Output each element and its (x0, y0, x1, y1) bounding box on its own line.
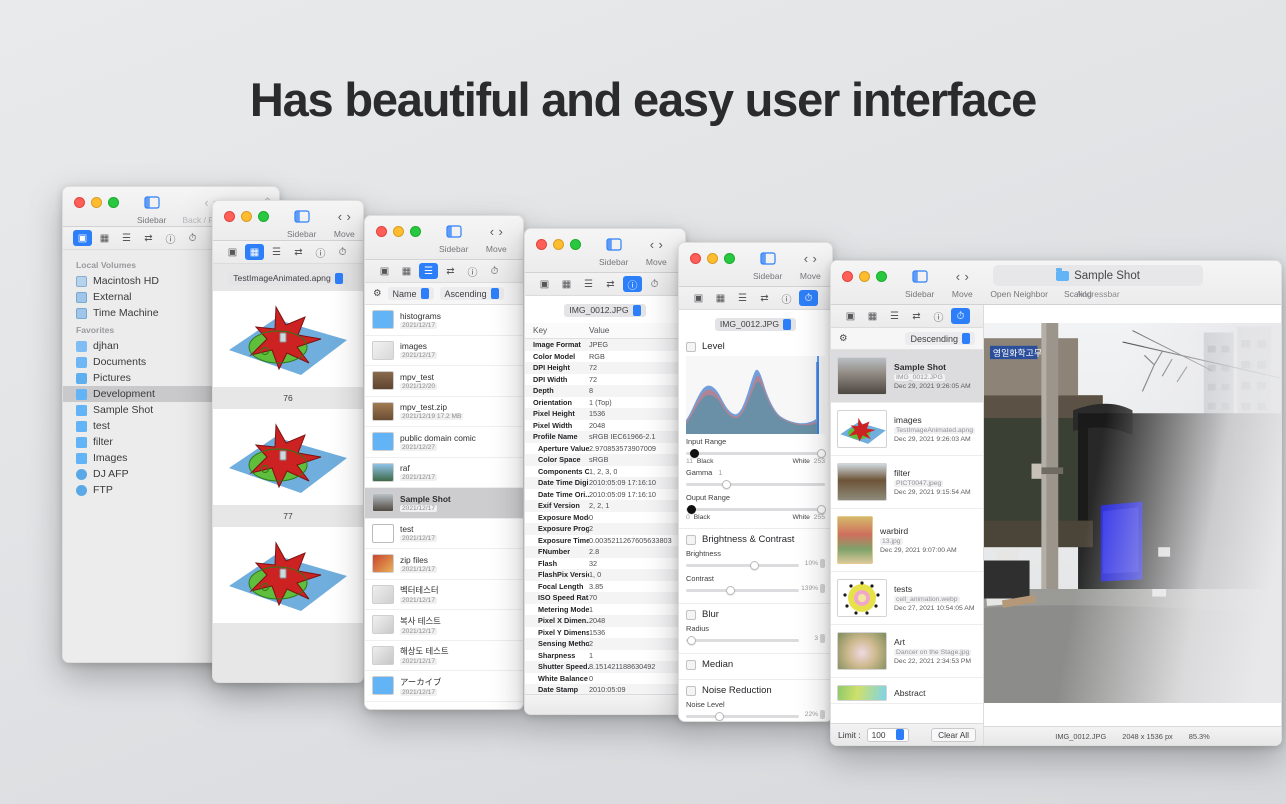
metadata-row[interactable]: Components C...1, 2, 3, 0 (525, 466, 685, 478)
sort-order-stepper[interactable] (962, 333, 970, 344)
section-blur[interactable]: Blur Radius 3 (679, 604, 832, 654)
metadata-row[interactable]: Focal Length3.85 (525, 581, 685, 593)
view-info-icon[interactable]: ⓘ (463, 263, 482, 279)
folder-icon (76, 405, 87, 416)
metadata-key: Shutter Speed... (525, 662, 589, 671)
titlebar[interactable]: Sidebar ‹ › Move ⌃ ⌄ Open Neighbor (679, 243, 832, 287)
toolbar-move-label: Move (646, 257, 667, 267)
radius-slider[interactable]: 3 (686, 634, 825, 646)
titlebar[interactable]: Sidebar ‹ › Move ⌃ ⌄ Open Neighbor (365, 216, 523, 260)
gamma-slider[interactable] (686, 478, 825, 490)
sidebar-icon (760, 249, 776, 268)
toolbar-sidebar[interactable]: Sidebar (279, 207, 324, 239)
item-filename: PICT0047.jpeg (894, 480, 943, 487)
metadata-row[interactable]: Image FormatJPEG (525, 339, 685, 351)
input-range-slider[interactable] (686, 447, 825, 459)
metadata-row[interactable]: Profile NamesRGB IEC61966-2.1 (525, 431, 685, 443)
toolbar-move[interactable]: ‹ › Move (476, 222, 516, 254)
list-item[interactable]: Sample Shot IMG_0012.JPG Dec 29, 2021 9:… (831, 350, 983, 403)
view-history-icon[interactable]: ⏱ (183, 230, 202, 246)
file-stepper[interactable] (633, 305, 641, 316)
pictures-icon (76, 373, 87, 384)
file-date: 2021/12/17 (400, 658, 437, 665)
traffic-lights[interactable] (679, 249, 735, 264)
zoom-button[interactable] (724, 253, 735, 264)
metadata-key: Aperture Value (525, 444, 589, 453)
image-adjustments-window[interactable]: Sidebar ‹ › Move ⌃ ⌄ Open Neighbor ▣ ▦ ☰… (678, 242, 833, 722)
item-filename: IMG_0012.JPG (894, 374, 945, 381)
move-icon: ‹ › (490, 222, 503, 241)
file-date: 2021/12/17 (400, 628, 437, 635)
toolbar-sidebar-label: Sidebar (599, 257, 628, 267)
metadata-window[interactable]: Sidebar ‹ › Move ⌃ ⌄ Open Neighbor ▣ ▦ ☰… (524, 228, 686, 715)
minimize-button[interactable] (859, 271, 870, 282)
metadata-row[interactable]: Pixel X Dimen...2048 (525, 615, 685, 627)
metadata-value-column: Value (589, 326, 609, 335)
image-viewer[interactable]: 영일화학고무 (984, 305, 1281, 745)
view-shuffle-icon[interactable]: ⇄ (601, 276, 620, 292)
gallery-list[interactable]: Sample Shot IMG_0012.JPG Dec 29, 2021 9:… (831, 350, 983, 723)
noise-reduction-checkbox[interactable] (686, 686, 696, 696)
close-button[interactable] (74, 197, 85, 208)
view-info-icon[interactable]: ⓘ (929, 308, 948, 324)
list-item[interactable]: Art Dancer on the Stage.jpg Dec 22, 2021… (831, 625, 983, 678)
toolbar-move-label: Move (800, 271, 821, 281)
table-row[interactable]: public domain comic2021/12/27 (365, 427, 523, 458)
gamma-knob[interactable] (722, 480, 731, 489)
view-list-icon[interactable]: ☰ (733, 290, 752, 306)
zoom-button[interactable] (876, 271, 887, 282)
median-checkbox[interactable] (686, 660, 696, 670)
metadata-value: 2.8 (589, 547, 599, 556)
table-row[interactable]: raf2021/12/17 (365, 458, 523, 489)
table-row[interactable]: Sample Shot2021/12/17 (365, 488, 523, 519)
toolbar-sidebar[interactable]: Sidebar (897, 267, 942, 299)
metadata-row[interactable]: ISO Speed Rat...70 (525, 592, 685, 604)
metadata-rows[interactable]: Image FormatJPEGColor ModelRGBDPI Height… (525, 339, 685, 715)
view-shuffle-icon[interactable]: ⇄ (755, 290, 774, 306)
table-row[interactable]: images2021/12/17 (365, 336, 523, 367)
cell-animation-icon (843, 581, 881, 615)
metadata-row[interactable]: Metering Mode1 (525, 604, 685, 616)
sort-field-select[interactable]: Name (388, 287, 434, 300)
toolbar-sidebar[interactable]: Sidebar (129, 193, 174, 225)
metadata-row[interactable]: Exposure Time0.0035211267605633803 (525, 535, 685, 547)
radius-knob[interactable] (687, 636, 696, 645)
output-range-label: Ouput Range (686, 493, 825, 502)
thumbnail-icon (837, 685, 887, 701)
metadata-value: 1, 0 (589, 570, 601, 579)
sort-bar[interactable]: ⚙ Descending (831, 328, 983, 350)
section-label: Level (702, 341, 725, 352)
sort-order-stepper[interactable] (491, 288, 499, 299)
view-list-icon[interactable]: ☰ (267, 244, 286, 260)
view-info-icon[interactable]: ⓘ (311, 244, 330, 260)
item-date: Dec 29, 2021 9:15:54 AM (894, 489, 971, 496)
view-thumbnail-icon[interactable]: ▣ (689, 290, 708, 306)
titlebar[interactable]: Sidebar ‹ › Move ⌃ ⌄ Open Neighbor (525, 229, 685, 273)
item-date: Dec 22, 2021 2:34:53 PM (894, 658, 971, 665)
radius-stepper[interactable] (820, 634, 825, 643)
photo-preview[interactable]: 영일화학고무 (984, 323, 1281, 703)
file-name: mpv_test (400, 372, 437, 382)
metadata-value: 3.85 (589, 582, 603, 591)
metadata-key: Metering Mode (525, 605, 589, 614)
status-dimensions: 2048 x 1536 px (1122, 732, 1173, 741)
table-row[interactable]: zip files2021/12/17 (365, 549, 523, 580)
output-black-knob[interactable] (687, 505, 696, 514)
view-history-icon[interactable]: ⏱ (333, 244, 352, 260)
sort-order-select[interactable]: Descending (905, 332, 975, 345)
output-white-label: White (793, 514, 810, 521)
toolbar-sidebar[interactable]: Sidebar (591, 235, 636, 267)
close-button[interactable] (224, 211, 235, 222)
thumbnail-icon (372, 585, 394, 604)
view-grid-icon[interactable]: ▦ (245, 244, 264, 260)
section-brightness-contrast[interactable]: Brightness & Contrast Brightness 10% Con… (679, 529, 832, 604)
sort-bar[interactable]: ⚙ Name Ascending (365, 283, 523, 305)
view-shuffle-icon[interactable]: ⇄ (139, 230, 158, 246)
section-median[interactable]: Median (679, 654, 832, 680)
metadata-row[interactable]: Depth8 (525, 385, 685, 397)
zoom-button[interactable] (570, 239, 581, 250)
histogram-chart (686, 356, 825, 434)
traffic-lights[interactable] (365, 222, 421, 237)
noise-level-value: 22% (805, 711, 818, 718)
view-thumbnail-icon[interactable]: ▣ (535, 276, 554, 292)
contrast-slider[interactable]: 139% (686, 584, 825, 596)
view-mode-segments[interactable]: ▣ ▦ ☰ ⇄ ⓘ ⏱ (213, 241, 363, 264)
sidebar-item-label: FTP (93, 484, 113, 496)
zoom-button[interactable] (410, 226, 421, 237)
zoom-button[interactable] (258, 211, 269, 222)
view-info-icon[interactable]: ⓘ (777, 290, 796, 306)
vector-artwork-icon (838, 411, 887, 448)
view-info-icon[interactable]: ⓘ (623, 276, 642, 292)
file-stepper[interactable] (335, 273, 343, 284)
radius-label: Radius (686, 624, 825, 633)
thumbnail-icon (372, 524, 394, 543)
view-grid-icon[interactable]: ▦ (557, 276, 576, 292)
view-mode-segments[interactable]: ▣ ▦ ☰ ⇄ ⓘ ⏱ (525, 273, 685, 296)
thumbnail-icon (837, 463, 887, 501)
output-white-knob[interactable] (817, 505, 826, 514)
metadata-key: Pixel X Dimen... (525, 616, 589, 625)
toolbar-sidebar-label: Sidebar (753, 271, 782, 281)
metadata-row[interactable]: Pixel Width2048 (525, 420, 685, 432)
sidebar-item-label: Development (93, 388, 155, 400)
current-filename: TestImageAnimated.apng (233, 273, 330, 283)
folder-icon (76, 437, 87, 448)
file-list-window[interactable]: Sidebar ‹ › Move ⌃ ⌄ Open Neighbor ▣ ▦ ☰… (364, 215, 524, 710)
photo-fade-overlay (984, 323, 1281, 703)
gallery-viewer-window[interactable]: Sidebar ‹ › Move ⌃ ⌄ Open Neighbor ✕ ▾ S… (830, 260, 1282, 746)
view-grid-icon[interactable]: ▦ (863, 308, 882, 324)
metadata-row[interactable]: FNumber2.8 (525, 546, 685, 558)
view-history-icon[interactable]: ⏱ (485, 263, 504, 279)
limit-label: Limit : (838, 730, 861, 740)
close-button[interactable] (536, 239, 547, 250)
metadata-value: 2, 2, 1 (589, 501, 609, 510)
item-filename: cell_animation.webp (894, 596, 960, 603)
item-date: Dec 29, 2021 9:26:05 AM (894, 383, 971, 390)
toolbar-sidebar[interactable]: Sidebar (431, 222, 476, 254)
move-icon: ‹ › (650, 235, 663, 254)
zoom-button[interactable] (108, 197, 119, 208)
contrast-knob[interactable] (726, 586, 735, 595)
home-icon (76, 341, 87, 352)
view-list-icon[interactable]: ☰ (885, 308, 904, 324)
traffic-lights[interactable] (63, 193, 119, 208)
noise-level-slider[interactable]: 22% (686, 710, 825, 722)
metadata-row[interactable]: Flash32 (525, 558, 685, 570)
metadata-key: Exposure Time (525, 536, 589, 545)
metadata-value: sRGB IEC61966-2.1 (589, 432, 656, 441)
disk-icon (76, 292, 87, 303)
traffic-lights[interactable] (213, 207, 269, 222)
view-thumbnail-icon[interactable]: ▣ (841, 308, 860, 324)
table-row[interactable]: test2021/12/17 (365, 519, 523, 550)
file-name: Sample Shot (400, 494, 451, 504)
view-shuffle-icon[interactable]: ⇄ (907, 308, 926, 324)
settings-gear-icon[interactable]: ⚙ (839, 333, 848, 344)
view-grid-icon[interactable]: ▦ (397, 263, 416, 279)
file-date: 2021/12/17 (400, 322, 437, 329)
thumbnail-icon (837, 579, 887, 617)
toolbar-move[interactable]: ‹ › Move (790, 249, 830, 281)
metadata-value: 2010:05:09 17:16:10 (589, 478, 656, 487)
noise-level-stepper[interactable] (820, 710, 825, 719)
metadata-row[interactable]: DPI Height72 (525, 362, 685, 374)
toolbar-sidebar-label: Sidebar (905, 289, 934, 299)
page-title: Has beautiful and easy user interface (0, 72, 1286, 127)
view-list-icon[interactable]: ☰ (579, 276, 598, 292)
close-button[interactable] (376, 226, 387, 237)
metadata-value: 2.970853573907009 (589, 444, 656, 453)
metadata-key-column: Key (525, 326, 589, 335)
metadata-key: DPI Height (525, 363, 589, 372)
gallery-sidebar[interactable]: ▣ ▦ ☰ ⇄ ⓘ ⏱ ⚙ Descending Sample Shot IMG… (831, 305, 984, 745)
file-name: raf (400, 463, 437, 473)
metadata-row[interactable]: Sharpness1 (525, 650, 685, 662)
brightness-slider[interactable]: 10% (686, 559, 825, 571)
metadata-value: 1, 2, 3, 0 (589, 467, 617, 476)
view-mode-segments[interactable]: ▣ ▦ ☰ ⇄ ⓘ ⏱ (365, 260, 523, 283)
file-name: 복사 테스트 (400, 615, 441, 627)
metadata-row[interactable]: Pixel Height1536 (525, 408, 685, 420)
brightness-stepper[interactable] (820, 559, 825, 568)
view-history-icon[interactable]: ⏱ (645, 276, 664, 292)
view-adjust-icon[interactable]: ⏱ (799, 290, 818, 306)
metadata-value: 1 (Top) (589, 398, 612, 407)
toolbar-move[interactable]: ‹ › Move (324, 207, 364, 239)
sidebar-icon (912, 267, 928, 286)
toolbar-open-neighbor[interactable]: ⌃ ⌄ Open Neighbor (516, 222, 524, 254)
view-shuffle-icon[interactable]: ⇄ (441, 263, 460, 279)
file-date: 2021/12/17 (400, 535, 437, 542)
list-item[interactable]: Abstract (831, 678, 983, 704)
blur-checkbox[interactable] (686, 610, 696, 620)
minimize-button[interactable] (241, 211, 252, 222)
metadata-row[interactable]: Date Time Ori...2010:05:09 17:16:10 (525, 489, 685, 501)
metadata-key: Orientation (525, 398, 589, 407)
metadata-row[interactable]: Orientation1 (Top) (525, 397, 685, 409)
view-grid-icon[interactable]: ▦ (95, 230, 114, 246)
metadata-row[interactable]: Shutter Speed...8.151421188630492 (525, 661, 685, 673)
metadata-row[interactable]: DPI Width72 (525, 374, 685, 386)
vector-artwork-icon (223, 531, 353, 619)
section-level[interactable]: Level Input Range 11 Black White 253 Gam… (679, 336, 832, 529)
sort-order-select[interactable]: Ascending (440, 287, 504, 300)
table-row[interactable]: 벡터테스터2021/12/17 (365, 580, 523, 611)
input-black-label: Black (697, 458, 714, 465)
metadata-value: 2010:05:09 17:16:10 (589, 490, 656, 499)
metadata-key: ISO Speed Rat... (525, 593, 589, 602)
noise-level-knob[interactable] (715, 712, 724, 721)
thumbnail-strip-window[interactable]: Sidebar ‹ › Move ⌃ ⌄ Open Neighbor ▣ ▦ ☰… (212, 200, 364, 683)
thumbnail-icon (372, 341, 394, 360)
file-name: zip files (400, 555, 437, 565)
metadata-row[interactable]: Pixel Y Dimens...1536 (525, 627, 685, 639)
titlebar[interactable]: Sidebar ‹ › Move ⌃ ⌄ Open Neighbor ✕ ▾ S… (831, 261, 1281, 305)
metadata-row[interactable]: Color ModelRGB (525, 351, 685, 363)
metadata-row[interactable]: Color SpacesRGB (525, 454, 685, 466)
view-thumbnail-icon[interactable]: ▣ (375, 263, 394, 279)
metadata-row[interactable]: Exif Version2, 2, 1 (525, 500, 685, 512)
metadata-key: Flash (525, 559, 589, 568)
gallery-footer[interactable]: Limit : 100 Clear All (831, 723, 983, 745)
status-filename: IMG_0012.JPG (1055, 732, 1106, 741)
metadata-key: Exposure Mode (525, 513, 589, 522)
brightness-label: Brightness (686, 549, 825, 558)
minimize-button[interactable] (707, 253, 718, 264)
brightness-contrast-checkbox[interactable] (686, 535, 696, 545)
file-date: 2021/12/17 (400, 597, 437, 604)
metadata-row[interactable]: Date Time Digi...2010:05:09 17:16:10 (525, 477, 685, 489)
list-item[interactable]: images TestImageAnimated.apng Dec 29, 20… (831, 403, 983, 456)
clear-all-button[interactable]: Clear All (931, 728, 976, 742)
metadata-row[interactable]: Sensing Method2 (525, 638, 685, 650)
metadata-row[interactable]: Exposure Prog...2 (525, 523, 685, 535)
view-list-icon[interactable]: ☰ (117, 230, 136, 246)
close-button[interactable] (842, 271, 853, 282)
folder-icon (372, 432, 394, 451)
table-row[interactable]: アーカイブ2021/12/17 (365, 671, 523, 702)
window-footer (525, 694, 685, 714)
status-zoom: 85.3% (1189, 732, 1210, 741)
metadata-value: 1 (589, 605, 593, 614)
section-label: Median (702, 659, 733, 670)
sidebar-item-label: DJ AFP (93, 468, 129, 480)
minimize-button[interactable] (91, 197, 102, 208)
table-row[interactable]: 해상도 테스트2021/12/17 (365, 641, 523, 672)
view-list-icon[interactable]: ☰ (419, 263, 438, 279)
file-rows[interactable]: histograms2021/12/17 images2021/12/17 mp… (365, 305, 523, 710)
input-black-knob[interactable] (690, 449, 699, 458)
adjustment-panel[interactable]: IMG_0012.JPG Level Input Range 11 Black … (679, 310, 832, 722)
metadata-row[interactable]: Exposure Mode0 (525, 512, 685, 524)
current-filename: IMG_0012.JPG (720, 319, 779, 329)
table-row[interactable]: mpv_test2021/12/20 (365, 366, 523, 397)
move-icon: ‹ › (956, 267, 969, 286)
metadata-key: Date Stamp (525, 685, 589, 694)
gamma-label: Gamma (686, 468, 712, 477)
view-thumbnail-icon[interactable]: ▣ (223, 244, 242, 260)
minimize-button[interactable] (393, 226, 404, 237)
view-grid-icon[interactable]: ▦ (711, 290, 730, 306)
list-item[interactable]: filter PICT0047.jpeg Dec 29, 2021 9:15:5… (831, 456, 983, 509)
brightness-knob[interactable] (750, 561, 759, 570)
metadata-row[interactable]: FlashPix Version1, 0 (525, 569, 685, 581)
thumbnail-icon (837, 632, 887, 670)
sidebar-item-label: Macintosh HD (93, 275, 159, 287)
minimize-button[interactable] (553, 239, 564, 250)
documents-icon (76, 357, 87, 368)
sort-field-stepper[interactable] (421, 288, 429, 299)
item-name: Art (894, 637, 971, 647)
thumbnail-icon (372, 402, 394, 421)
metadata-key: Pixel Height (525, 409, 589, 418)
thumbnail-frame[interactable] (213, 291, 363, 387)
item-name: Sample Shot (894, 362, 971, 372)
metadata-value: 72 (589, 375, 597, 384)
metadata-row[interactable]: White Balance0 (525, 673, 685, 685)
sidebar-item-label: Documents (93, 356, 146, 368)
contrast-stepper[interactable] (820, 584, 825, 593)
toolbar-move[interactable]: ‹ › Move (942, 267, 982, 299)
output-range-slider[interactable] (686, 503, 825, 515)
toolbar-move[interactable]: ‹ › Move (636, 235, 676, 267)
view-mode-segments[interactable]: ▣ ▦ ☰ ⇄ ⓘ ⏱ (831, 305, 983, 328)
metadata-row[interactable]: Aperture Value2.970853573907009 (525, 443, 685, 455)
file-stepper[interactable] (783, 319, 791, 330)
file-name: mpv_test.zip (400, 402, 463, 412)
view-info-icon[interactable]: ⓘ (161, 230, 180, 246)
section-noise-reduction[interactable]: Noise Reduction Noise Level 22% Sharpnes… (679, 680, 832, 722)
addressbar[interactable]: Sample Shot (993, 265, 1203, 286)
table-row[interactable]: histograms2021/12/17 (365, 305, 523, 336)
thumbnail-icon (372, 554, 394, 573)
titlebar[interactable]: Sidebar ‹ › Move ⌃ ⌄ Open Neighbor (213, 201, 363, 241)
thumbnail-frame[interactable] (213, 527, 363, 623)
level-checkbox[interactable] (686, 342, 696, 352)
close-button[interactable] (690, 253, 701, 264)
table-row[interactable]: 복사 테스트2021/12/17 (365, 610, 523, 641)
vector-artwork-icon (223, 413, 353, 501)
list-item[interactable]: warbird 13.jpg Dec 29, 2021 9:07:00 AM (831, 509, 983, 572)
settings-gear-icon[interactable]: ⚙ (373, 288, 382, 299)
view-thumbnail-icon[interactable]: ▣ (73, 230, 92, 246)
toolbar-sidebar[interactable]: Sidebar (745, 249, 790, 281)
table-row[interactable]: mpv_test.zip2021/12/19 17.2 MB (365, 397, 523, 428)
view-shuffle-icon[interactable]: ⇄ (289, 244, 308, 260)
metadata-value: 32 (589, 559, 597, 568)
list-item[interactable]: tests cell_animation.webp Dec 27, 2021 1… (831, 572, 983, 625)
file-name: 해상도 테스트 (400, 645, 449, 657)
traffic-lights[interactable] (525, 235, 581, 250)
view-mode-segments[interactable]: ▣ ▦ ☰ ⇄ ⓘ ⏱ (679, 287, 832, 310)
metadata-key: Components C... (525, 467, 589, 476)
noise-level-label: Noise Level (686, 700, 825, 709)
item-filename: TestImageAnimated.apng (894, 427, 975, 434)
thumbnail-frame[interactable] (213, 409, 363, 505)
limit-stepper[interactable] (896, 729, 904, 740)
input-white-knob[interactable] (817, 449, 826, 458)
traffic-lights[interactable] (831, 267, 887, 282)
limit-select[interactable]: 100 (867, 728, 909, 742)
thumbnail-scroll-area[interactable]: TestImageAnimated.apng 76 (213, 264, 363, 682)
view-history-icon[interactable]: ⏱ (951, 308, 970, 324)
